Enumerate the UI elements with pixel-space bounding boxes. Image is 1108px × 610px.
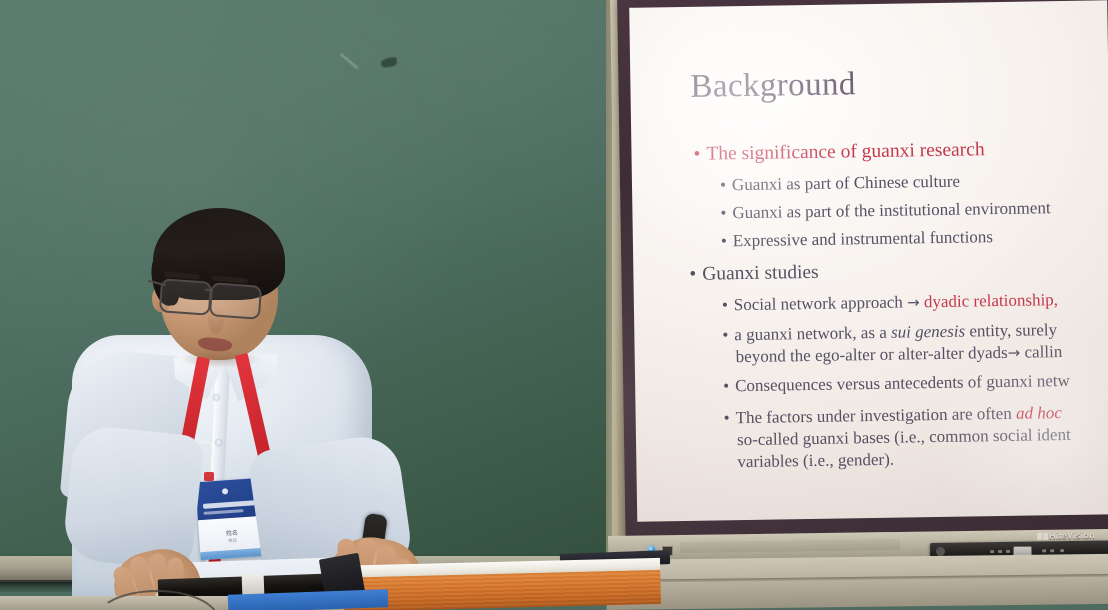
bullet-glyph: • xyxy=(689,263,696,287)
line-a: The factors under investigation are ofte… xyxy=(735,404,1016,427)
bullet-glyph: • xyxy=(723,375,729,396)
slide-bullet-guanxi-studies: •Guanxi studies xyxy=(689,261,819,287)
slide-bullet-consequences: •Consequences versus antecedents of guan… xyxy=(723,370,1070,397)
screen-surface[interactable]: Background •The significance of guanxi r… xyxy=(629,0,1108,521)
bullet-glyph: • xyxy=(693,143,700,167)
slide-bullet-ad-hoc-line3: variables (i.e., gender). xyxy=(737,449,894,473)
line-2: so-called guanxi bases (i.e., common soc… xyxy=(737,425,1071,449)
logo-mark-icon xyxy=(1037,533,1042,540)
bullet-text: Expressive and instrumental functions xyxy=(733,227,993,250)
badge-clip xyxy=(204,472,214,481)
bullet-text: Guanxi studies xyxy=(702,262,819,285)
bullet-glyph: • xyxy=(724,407,730,428)
line-2: beyond the ego-alter or alter-alter dyad… xyxy=(736,343,1008,366)
bullet-text: Guanxi as part of the institutional envi… xyxy=(732,198,1050,222)
soundbar-button[interactable] xyxy=(1050,549,1054,552)
presenter: 中国社会学会 姓名 单位 xyxy=(60,180,440,610)
bullet-glyph: • xyxy=(721,230,727,251)
line-a: a guanxi network, as a xyxy=(734,323,891,344)
line-3: variables (i.e., gender). xyxy=(737,450,894,471)
soundbar-button[interactable] xyxy=(998,550,1002,553)
bullet-text-plain: Social network approach xyxy=(734,293,903,315)
soundbar-button[interactable] xyxy=(1060,549,1064,552)
lecture-photo-scene: Background •The significance of guanxi r… xyxy=(0,0,1108,610)
glasses-lens-left xyxy=(159,278,212,315)
soundbar-button[interactable] xyxy=(990,550,994,553)
slide-bullet-institutional-environment: •Guanxi as part of the institutional env… xyxy=(720,197,1050,224)
bullet-glyph: • xyxy=(720,202,726,223)
bullet-text: Consequences versus antecedents of guanx… xyxy=(735,371,1070,395)
left-arm-sleeve xyxy=(61,424,204,572)
slide-bullet-significance: •The significance of guanxi research xyxy=(693,138,984,166)
slide-bullet-social-network: •Social network approach → dyadic relati… xyxy=(722,289,1058,316)
shirt-button xyxy=(216,440,221,445)
shirt-button xyxy=(214,395,219,400)
bullet-text: The significance of guanxi research xyxy=(706,139,985,164)
slide-bullet-expressive-instrumental: •Expressive and instrumental functions xyxy=(721,226,993,252)
projection-screen-unit: Background •The significance of guanxi r… xyxy=(617,0,1108,539)
line-b: entity, surely xyxy=(965,320,1057,340)
line-italic-accent: ad hoc xyxy=(1016,403,1062,423)
slide-title: Background xyxy=(690,66,856,106)
slide-bullet-ad-hoc-line2: so-called guanxi bases (i.e., common soc… xyxy=(737,424,1071,451)
slide-bullet-chinese-culture: •Guanxi as part of Chinese culture xyxy=(720,171,960,196)
bullet-glyph: • xyxy=(722,324,728,345)
line-italic: sui genesis xyxy=(891,322,965,342)
logo-mark-icon xyxy=(1043,533,1048,540)
nose xyxy=(208,306,224,334)
bullet-glyph: • xyxy=(720,174,726,195)
bullet-text: Guanxi as part of Chinese culture xyxy=(732,172,960,195)
soundbar-button[interactable] xyxy=(1042,549,1046,552)
brand-label: HiteVision xyxy=(1049,530,1095,541)
slide-bullet-sui-genesis-line2: beyond the ego-alter or alter-alter dyad… xyxy=(736,341,1063,368)
bullet-text-accent: dyadic relationship, xyxy=(924,290,1058,311)
soundbar-button[interactable] xyxy=(1006,550,1010,553)
presentation-slide: Background •The significance of guanxi r… xyxy=(629,0,1108,521)
soundbar-power-icon[interactable] xyxy=(936,547,945,556)
arrow-icon: → xyxy=(1008,344,1021,362)
arrow-icon: → xyxy=(907,293,920,311)
bullet-glyph: • xyxy=(722,294,728,315)
line-2b: callin xyxy=(1020,342,1062,362)
